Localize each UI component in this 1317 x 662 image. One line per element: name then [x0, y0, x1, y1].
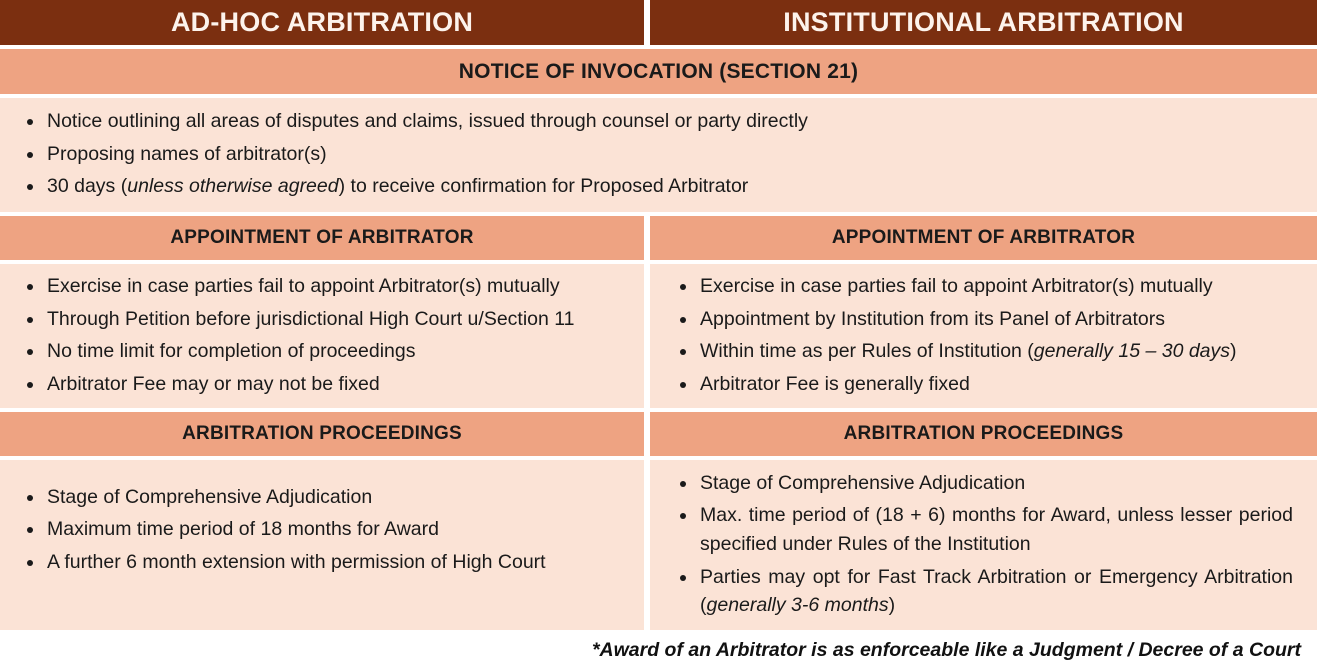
list-item: Within time as per Rules of Institution …: [650, 337, 1317, 366]
list-item-text: A further 6 month extension with permiss…: [47, 551, 546, 573]
list-item-text: ): [889, 594, 896, 616]
column-header-ad-hoc: AD-HOC ARBITRATION: [0, 0, 644, 45]
list-item-text: Arbitrator Fee is generally fixed: [700, 373, 970, 395]
section-heading-appointment-right: APPOINTMENT OF ARBITRATOR: [650, 216, 1317, 260]
arbitration-comparison-table: AD-HOC ARBITRATION INSTITUTIONAL ARBITRA…: [0, 0, 1317, 630]
list-item-text: Stage of Comprehensive Adjudication: [700, 472, 1025, 494]
proceedings-content-panel-ad-hoc: Stage of Comprehensive AdjudicationMaxim…: [0, 460, 644, 630]
list-item-text: ): [1230, 340, 1237, 362]
notice-heading-row: NOTICE OF INVOCATION (SECTION 21): [0, 49, 1317, 94]
list-item-text: Within time as per Rules of Institution …: [700, 340, 1034, 362]
appointment-content-row: Exercise in case parties fail to appoint…: [0, 264, 1317, 408]
appointment-heading-row: APPOINTMENT OF ARBITRATOR APPOINTMENT OF…: [0, 216, 1317, 260]
list-item-text: Exercise in case parties fail to appoint…: [700, 275, 1213, 297]
list-item-text: Proposing names of arbitrator(s): [47, 143, 327, 165]
list-item-text: 30 days (: [47, 175, 127, 197]
list-item: Appointment by Institution from its Pane…: [650, 305, 1317, 334]
emphasis-text: generally 3-6 months: [707, 594, 889, 616]
comparison-table-infographic: AD-HOC ARBITRATION INSTITUTIONAL ARBITRA…: [0, 0, 1317, 563]
proceedings-heading-row: ARBITRATION PROCEEDINGS ARBITRATION PROC…: [0, 412, 1317, 456]
list-item: Stage of Comprehensive Adjudication: [0, 483, 644, 512]
list-item: A further 6 month extension with permiss…: [0, 548, 644, 577]
proceedings-bullet-list-ad-hoc: Stage of Comprehensive AdjudicationMaxim…: [0, 483, 644, 577]
section-heading-proceedings-left: ARBITRATION PROCEEDINGS: [0, 412, 644, 456]
proceedings-content-panel-institutional: Stage of Comprehensive AdjudicationMax. …: [650, 460, 1317, 630]
notice-content-row: Notice outlining all areas of disputes a…: [0, 98, 1317, 212]
list-item: No time limit for completion of proceedi…: [0, 337, 644, 366]
list-item-text: No time limit for completion of proceedi…: [47, 340, 416, 362]
section-heading-notice-of-invocation: NOTICE OF INVOCATION (SECTION 21): [0, 49, 1317, 94]
notice-bullet-list: Notice outlining all areas of disputes a…: [0, 107, 1317, 201]
list-item: Arbitrator Fee is generally fixed: [650, 370, 1317, 399]
appointment-content-panel-institutional: Exercise in case parties fail to appoint…: [650, 264, 1317, 408]
footnote-award-enforceability: *Award of an Arbitrator is as enforceabl…: [0, 630, 1317, 662]
appointment-bullet-list-institutional: Exercise in case parties fail to appoint…: [650, 272, 1317, 399]
list-item: Max. time period of (18 + 6) months for …: [650, 501, 1317, 558]
list-item: Parties may opt for Fast Track Arbitrati…: [650, 563, 1317, 620]
list-item: Proposing names of arbitrator(s): [0, 140, 1317, 169]
list-item-text: Exercise in case parties fail to appoint…: [47, 275, 560, 297]
list-item-text: Through Petition before jurisdictional H…: [47, 308, 575, 330]
list-item: Exercise in case parties fail to appoint…: [650, 272, 1317, 301]
emphasis-text: unless otherwise agreed: [127, 175, 338, 197]
section-heading-proceedings-right: ARBITRATION PROCEEDINGS: [650, 412, 1317, 456]
column-header-institutional: INSTITUTIONAL ARBITRATION: [650, 0, 1317, 45]
proceedings-content-row: Stage of Comprehensive AdjudicationMaxim…: [0, 460, 1317, 630]
list-item-text: Notice outlining all areas of disputes a…: [47, 110, 808, 132]
emphasis-text: generally 15 – 30 days: [1034, 340, 1230, 362]
list-item-text: ) to receive confirmation for Proposed A…: [339, 175, 749, 197]
list-item: Through Petition before jurisdictional H…: [0, 305, 644, 334]
appointment-bullet-list-ad-hoc: Exercise in case parties fail to appoint…: [0, 272, 644, 399]
notice-content-panel: Notice outlining all areas of disputes a…: [0, 98, 1317, 212]
list-item: Stage of Comprehensive Adjudication: [650, 469, 1317, 498]
section-heading-appointment-left: APPOINTMENT OF ARBITRATOR: [0, 216, 644, 260]
list-item-text: Stage of Comprehensive Adjudication: [47, 486, 372, 508]
list-item-text: Maximum time period of 18 months for Awa…: [47, 518, 439, 540]
list-item-text: Arbitrator Fee may or may not be fixed: [47, 373, 380, 395]
proceedings-bullet-list-institutional: Stage of Comprehensive AdjudicationMax. …: [650, 469, 1317, 620]
list-item: Maximum time period of 18 months for Awa…: [0, 515, 644, 544]
appointment-content-panel-ad-hoc: Exercise in case parties fail to appoint…: [0, 264, 644, 408]
list-item: Arbitrator Fee may or may not be fixed: [0, 370, 644, 399]
list-item: 30 days (unless otherwise agreed) to rec…: [0, 172, 1317, 201]
table-header-row: AD-HOC ARBITRATION INSTITUTIONAL ARBITRA…: [0, 0, 1317, 45]
list-item: Exercise in case parties fail to appoint…: [0, 272, 644, 301]
list-item-text: Max. time period of (18 + 6) months for …: [700, 504, 1293, 555]
list-item: Notice outlining all areas of disputes a…: [0, 107, 1317, 136]
list-item-text: Appointment by Institution from its Pane…: [700, 308, 1165, 330]
